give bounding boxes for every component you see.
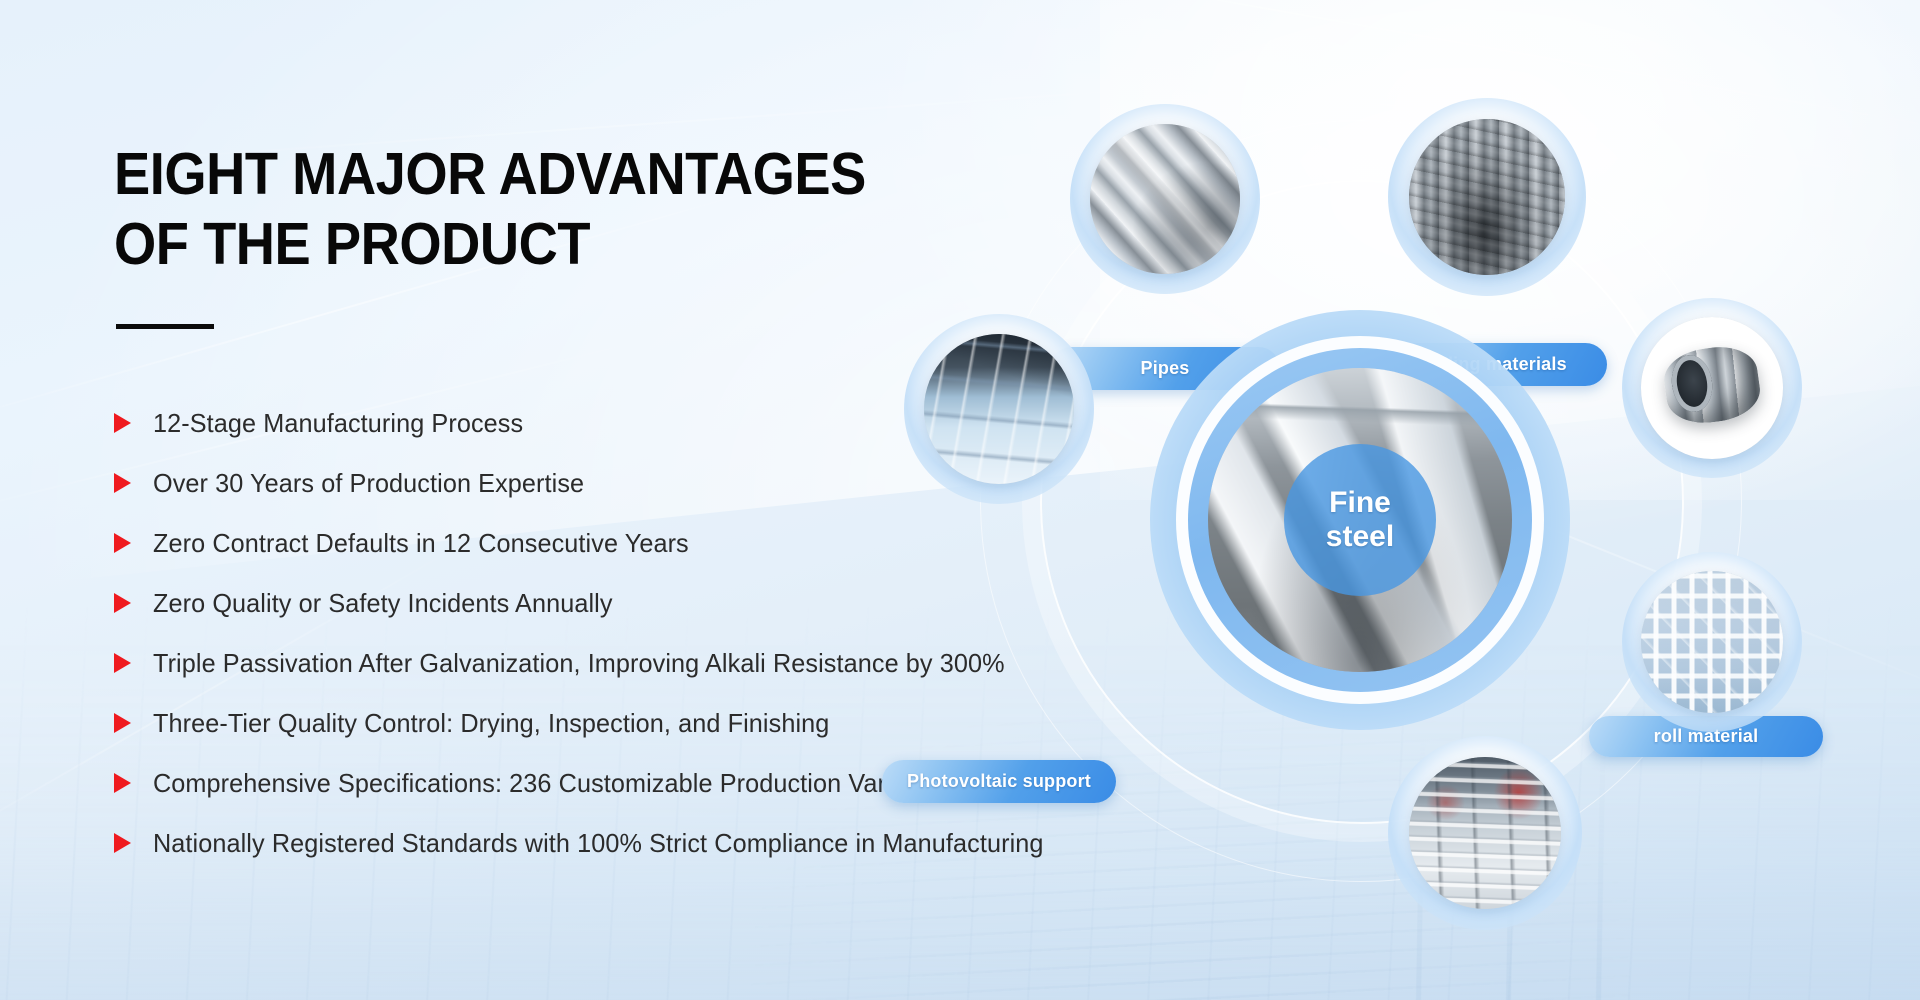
advantage-text: Nationally Registered Standards with 100… xyxy=(153,828,1044,859)
triangle-bullet-icon xyxy=(114,593,131,613)
product-badge-pipes[interactable]: Pipes xyxy=(1070,104,1260,294)
list-item: Zero Contract Defaults in 12 Consecutive… xyxy=(114,513,1174,573)
product-image-pipes xyxy=(1090,124,1240,274)
product-badge-board[interactable]: Board xyxy=(1388,736,1582,930)
triangle-bullet-icon xyxy=(114,533,131,553)
hero-label-badge[interactable]: Fine steel xyxy=(1284,444,1436,596)
triangle-bullet-icon xyxy=(114,773,131,793)
product-label-photovoltaic-support[interactable]: Photovoltaic support xyxy=(882,760,1116,803)
advantage-text: Zero Quality or Safety Incidents Annuall… xyxy=(153,588,613,619)
product-image-steel-structure xyxy=(1641,571,1783,713)
hero-label-line1: Fine xyxy=(1329,486,1391,520)
product-label-text: Photovoltaic support xyxy=(907,771,1091,792)
product-badge-photovoltaic-support[interactable]: Photovoltaic support xyxy=(904,314,1094,504)
product-badge-steel-structure[interactable]: steel structure xyxy=(1622,552,1802,732)
list-item: Three-Tier Quality Control: Drying, Insp… xyxy=(114,693,1174,753)
advantage-text: Zero Contract Defaults in 12 Consecutive… xyxy=(153,528,689,559)
advantage-text: Triple Passivation After Galvanization, … xyxy=(153,648,1005,679)
list-item: Triple Passivation After Galvanization, … xyxy=(114,633,1174,693)
list-item: Nationally Registered Standards with 100… xyxy=(114,813,1174,873)
triangle-bullet-icon xyxy=(114,653,131,673)
product-badge-roll-material[interactable]: roll material xyxy=(1622,298,1802,478)
product-image-board xyxy=(1409,757,1561,909)
advantage-text: Over 30 Years of Production Expertise xyxy=(153,468,584,499)
advantage-text: Three-Tier Quality Control: Drying, Insp… xyxy=(153,708,829,739)
poster-canvas: EIGHT MAJOR ADVANTAGES OF THE PRODUCT 12… xyxy=(0,0,1920,1000)
advantage-text: 12-Stage Manufacturing Process xyxy=(153,408,523,439)
hero-product-fine-steel[interactable]: Fine steel xyxy=(1150,310,1570,730)
triangle-bullet-icon xyxy=(114,833,131,853)
product-image-building-materials xyxy=(1409,119,1565,275)
triangle-bullet-icon xyxy=(114,713,131,733)
title-divider xyxy=(116,324,214,329)
hero-label-line2: steel xyxy=(1326,520,1394,554)
product-image-roll-material xyxy=(1641,317,1783,459)
product-badge-building-materials[interactable]: Building materials xyxy=(1388,98,1586,296)
page-title: EIGHT MAJOR ADVANTAGES OF THE PRODUCT xyxy=(114,140,1089,279)
product-image-photovoltaic-support xyxy=(924,334,1074,484)
triangle-bullet-icon xyxy=(114,473,131,493)
triangle-bullet-icon xyxy=(114,413,131,433)
list-item: Zero Quality or Safety Incidents Annuall… xyxy=(114,573,1174,633)
advantage-text: Comprehensive Specifications: 236 Custom… xyxy=(153,768,940,799)
